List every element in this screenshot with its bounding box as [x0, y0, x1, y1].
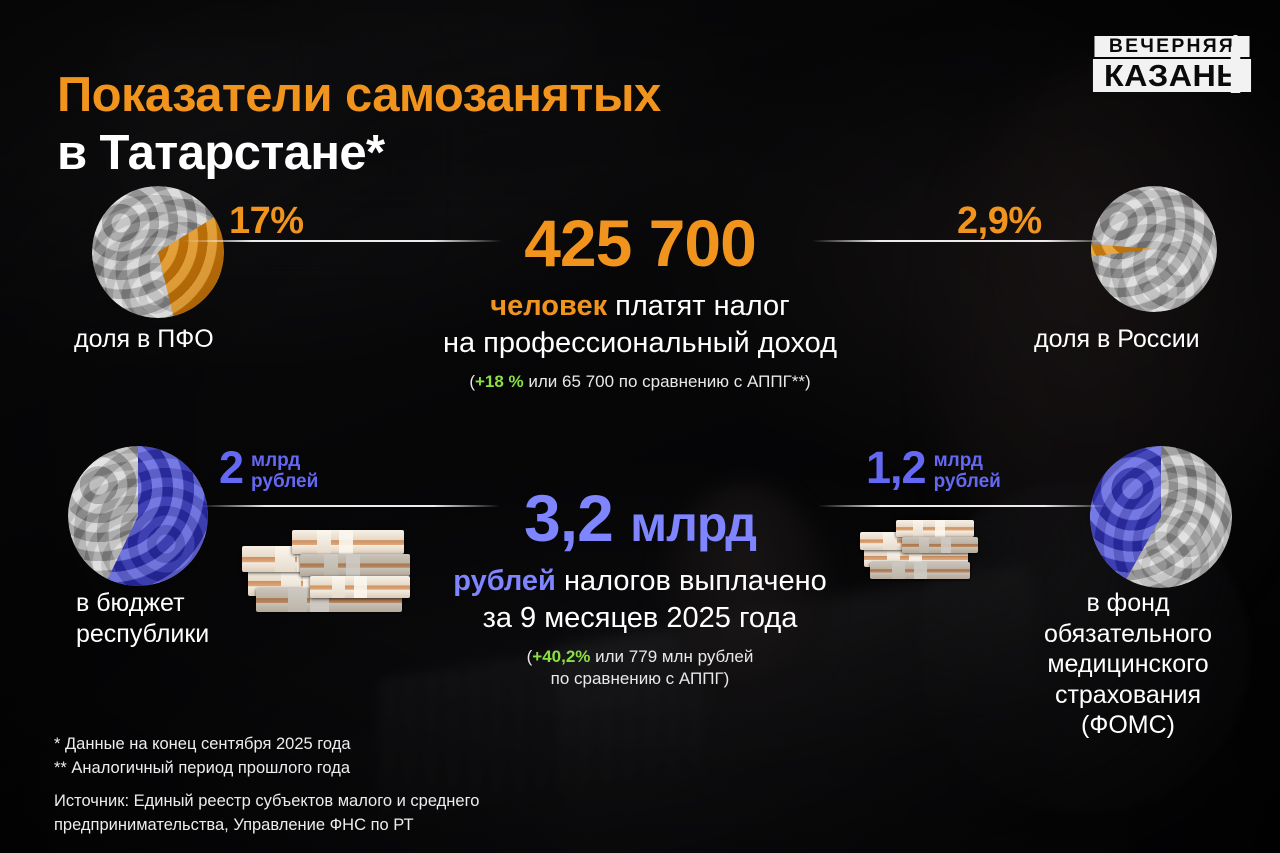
center-note-rest: или 779 млн рублей: [590, 647, 753, 666]
center-note-taxes: (+40,2% или 779 млн рублей: [410, 646, 870, 668]
source-note: Источник: Единый реестр субъектов малого…: [54, 789, 479, 837]
center-number-taxes-group: 3,2 млрд: [410, 485, 870, 551]
stat-caption-foms: в фонд обязательного медицинского страхо…: [1020, 588, 1236, 741]
center-desc-people: человек платят налог: [408, 289, 872, 324]
source-line2: предпринимательства, Управление ФНС по Р…: [54, 813, 479, 837]
center-desc-people-line2: на профессиональный доход: [408, 326, 872, 361]
logo-text-bottom: КАЗАНЬ: [1093, 59, 1251, 92]
banknote-stack-right: [856, 512, 986, 592]
stat-unit-line2: рублей: [934, 471, 1001, 492]
stat-caption-line4: страхования: [1055, 681, 1201, 709]
stat-caption-line2: обязательного: [1044, 620, 1212, 648]
stat-caption-line3: медицинского: [1047, 650, 1208, 678]
pie-chart-foms: [1090, 446, 1232, 588]
center-number-taxes: 3,2: [524, 481, 613, 555]
center-stat-people: 425 700 человек платят налог на професси…: [408, 210, 872, 393]
stat-value-foms: 1,2: [866, 447, 926, 490]
page-title-line2: в Татарстане*: [57, 125, 661, 183]
center-note-rest: или 65 700 по сравнению с АППГ**): [524, 372, 811, 391]
page-title-line1: Показатели самозанятых: [57, 67, 661, 125]
stat-value-republic-budget: 2: [219, 447, 243, 490]
publisher-logo: ВЕЧЕРНЯЯ КАЗАНЬ: [1096, 33, 1248, 95]
stat-caption-russia-share: доля в России: [1034, 325, 1200, 355]
center-desc-accent: рублей: [453, 565, 556, 597]
center-number-people: 425 700: [408, 210, 872, 276]
stat-value-pfo-share: 17%: [229, 200, 304, 243]
stat-caption-line2: республики: [76, 620, 209, 648]
center-desc-rest: налогов выплачено: [556, 565, 827, 597]
pie-chart-pfo-share: [92, 186, 224, 318]
center-desc-rest: платят налог: [607, 290, 790, 322]
stat-unit-line1: млрд: [251, 450, 300, 471]
center-note-people: (+18 % или 65 700 по сравнению с АППГ**): [408, 371, 872, 393]
stat-caption-line5: (ФОМС): [1081, 711, 1175, 739]
center-desc-taxes: рублей налогов выплачено: [410, 564, 870, 599]
footnote-line2: ** Аналогичный период прошлого года: [54, 756, 351, 780]
center-desc-accent: человек: [490, 290, 607, 322]
pie-chart-russia-share: [1091, 186, 1217, 312]
center-stat-taxes: 3,2 млрд рублей налогов выплачено за 9 м…: [410, 485, 870, 690]
stat-caption-republic-budget: в бюджет республики: [76, 588, 209, 649]
stat-unit-foms: млрд рублей: [934, 450, 1001, 493]
stat-unit-republic-budget: млрд рублей: [251, 450, 318, 493]
page-title: Показатели самозанятых в Татарстане*: [57, 67, 661, 183]
connector-line-foms: [818, 505, 1108, 507]
stat-unit-line1: млрд: [934, 450, 983, 471]
logo-text-top: ВЕЧЕРНЯЯ: [1094, 36, 1249, 57]
source-line1: Источник: Единый реестр субъектов малого…: [54, 789, 479, 813]
center-note-accent: +40,2%: [532, 647, 590, 666]
banknote-stack-left: [236, 510, 416, 620]
stat-caption-line1: в фонд: [1086, 589, 1169, 617]
infographic-canvas: Показатели самозанятых в Татарстане* ВЕЧ…: [0, 0, 1280, 853]
center-note-taxes-line2: по сравнению с АППГ): [410, 668, 870, 690]
stat-caption-pfo-share: доля в ПФО: [74, 325, 214, 355]
center-desc-taxes-line2: за 9 месяцев 2025 года: [410, 601, 870, 636]
center-number-taxes-unit: млрд: [630, 496, 756, 552]
pie-chart-republic-budget: [68, 446, 208, 586]
stat-caption-line1: в бюджет: [76, 589, 185, 617]
center-note-accent: +18 %: [475, 372, 524, 391]
stat-republic-budget-value-group: 2 млрд рублей: [219, 447, 318, 493]
footnotes: * Данные на конец сентября 2025 года ** …: [54, 732, 351, 780]
stat-foms-value-group: 1,2 млрд рублей: [866, 447, 1001, 493]
stat-value-russia-share: 2,9%: [957, 200, 1042, 243]
footnote-line1: * Данные на конец сентября 2025 года: [54, 732, 351, 756]
stat-unit-line2: рублей: [251, 471, 318, 492]
